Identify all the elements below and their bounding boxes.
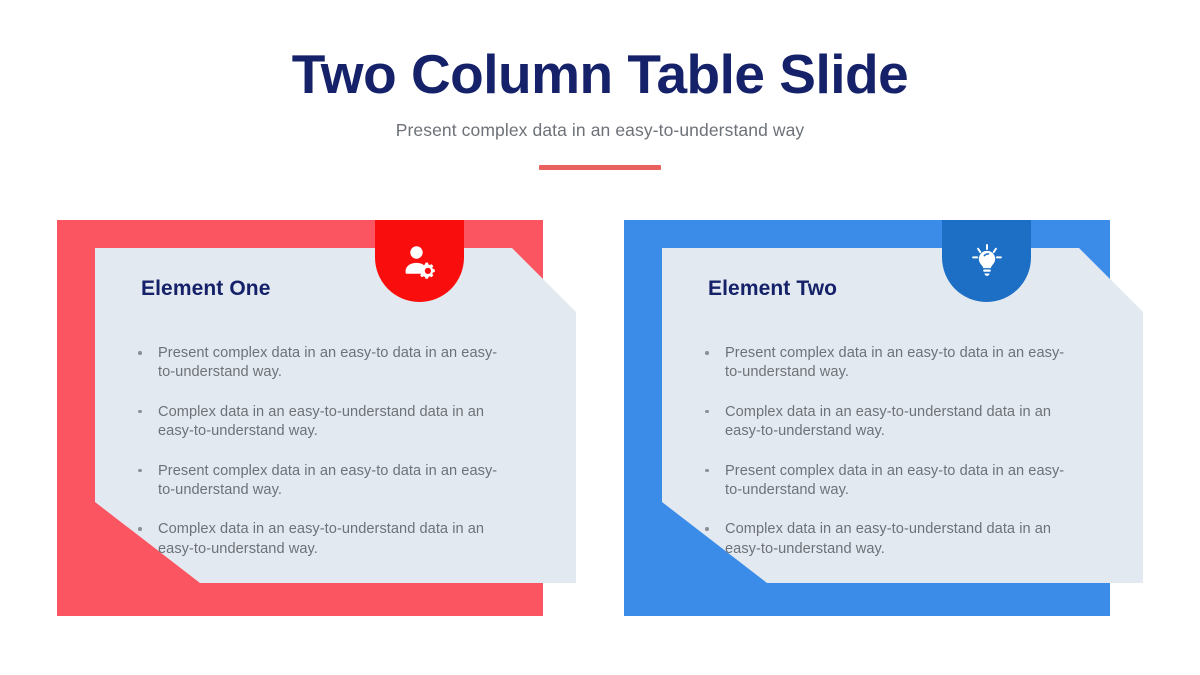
bullet-list-two: Present complex data in an easy-to data … bbox=[702, 344, 1080, 559]
bullet-dot-icon bbox=[705, 527, 709, 531]
list-item: Present complex data in an easy-to data … bbox=[135, 462, 513, 501]
list-item: Complex data in an easy-to-understand da… bbox=[135, 520, 513, 559]
list-item: Complex data in an easy-to-understand da… bbox=[702, 520, 1080, 559]
list-item: Complex data in an easy-to-understand da… bbox=[135, 403, 513, 442]
list-item-text: Present complex data in an easy-to data … bbox=[725, 345, 1064, 380]
bullet-dot-icon bbox=[705, 351, 709, 355]
list-item: Complex data in an easy-to-understand da… bbox=[702, 403, 1080, 442]
bullet-dot-icon bbox=[138, 351, 142, 355]
slide-header: Two Column Table Slide Present complex d… bbox=[0, 46, 1200, 170]
page-subtitle: Present complex data in an easy-to-under… bbox=[0, 104, 1200, 141]
list-item-text: Present complex data in an easy-to data … bbox=[725, 463, 1064, 498]
list-item: Present complex data in an easy-to data … bbox=[702, 344, 1080, 383]
card-element-two[interactable]: Element Two Present complex data in an e… bbox=[624, 220, 1143, 616]
list-item-text: Complex data in an easy-to-understand da… bbox=[725, 404, 1051, 439]
list-item-text: Present complex data in an easy-to data … bbox=[158, 345, 497, 380]
bullet-dot-icon bbox=[138, 469, 142, 473]
card-heading-two: Element Two bbox=[708, 277, 837, 301]
list-item-text: Complex data in an easy-to-understand da… bbox=[158, 521, 484, 556]
list-item-text: Present complex data in an easy-to data … bbox=[158, 463, 497, 498]
bullet-dot-icon bbox=[705, 410, 709, 414]
list-item: Present complex data in an easy-to data … bbox=[135, 344, 513, 383]
page-title: Two Column Table Slide bbox=[0, 46, 1200, 104]
bullet-list-one: Present complex data in an easy-to data … bbox=[135, 344, 513, 559]
card-element-one[interactable]: Element One Present complex data in an e… bbox=[57, 220, 576, 616]
list-item-text: Complex data in an easy-to-understand da… bbox=[158, 404, 484, 439]
slide-canvas: Two Column Table Slide Present complex d… bbox=[0, 0, 1200, 675]
bullet-dot-icon bbox=[138, 527, 142, 531]
bullet-dot-icon bbox=[705, 469, 709, 473]
bullet-dot-icon bbox=[138, 410, 142, 414]
list-item-text: Complex data in an easy-to-understand da… bbox=[725, 521, 1051, 556]
list-item: Present complex data in an easy-to data … bbox=[702, 462, 1080, 501]
user-settings-icon bbox=[400, 241, 440, 281]
lightbulb-icon bbox=[968, 242, 1006, 280]
card-heading-one: Element One bbox=[141, 277, 270, 301]
accent-divider bbox=[539, 165, 661, 170]
